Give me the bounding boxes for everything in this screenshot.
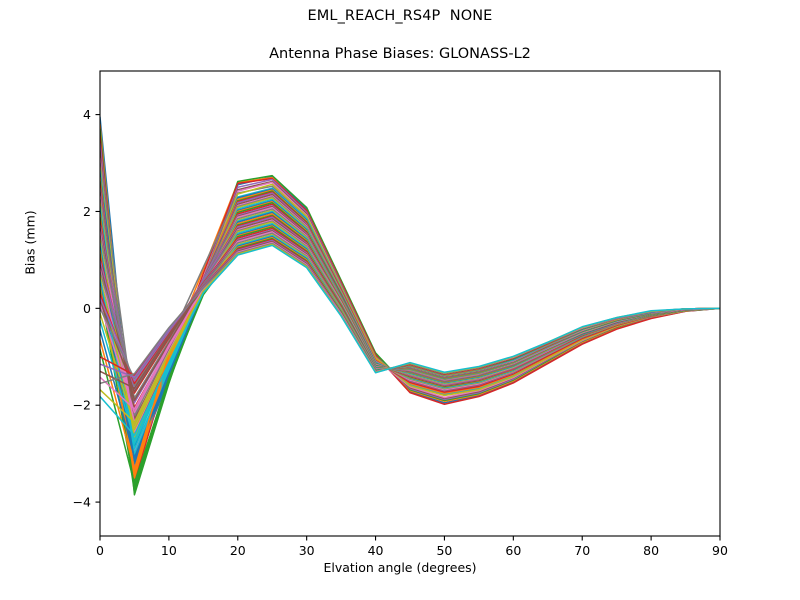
y-tick-label: 2 [83,204,91,219]
x-tick-label: 0 [96,543,104,558]
chart-plot-area: 0102030405060708090−4−2024 [0,0,800,600]
x-tick-label: 30 [299,543,315,558]
x-tick-label: 80 [643,543,659,558]
x-tick-label: 50 [436,543,452,558]
series-line [100,181,720,482]
matplotlib-figure: EML_REACH_RS4P NONE Antenna Phase Biases… [0,0,800,600]
x-tick-label: 10 [161,543,177,558]
series-line [100,212,720,460]
x-tick-label: 20 [230,543,246,558]
series-line [100,225,720,459]
series-line [100,203,720,490]
x-axis-label: Elvation angle (degrees) [0,560,800,575]
y-tick-label: 4 [83,107,91,122]
y-tick-label: −4 [73,495,91,510]
x-tick-label: 60 [505,543,521,558]
series-line [100,238,720,470]
y-tick-label: 0 [83,301,91,316]
series-line [100,211,720,453]
series-line [100,235,720,426]
series-line [100,236,720,440]
series-line [100,202,720,471]
series-lines [100,117,720,495]
series-line [100,245,720,435]
x-tick-label: 90 [712,543,728,558]
series-line [100,237,720,458]
series-line [100,239,720,484]
series-line [100,215,720,492]
series-line [100,214,720,478]
x-tick-label: 70 [574,543,590,558]
series-line [100,244,720,422]
y-tick-label: −2 [73,398,91,413]
series-line [100,201,720,464]
series-line [100,227,720,487]
series-line [100,226,720,473]
y-axis-label: Bias (mm) [23,173,38,313]
x-tick-label: 40 [368,543,384,558]
series-line [100,224,720,444]
